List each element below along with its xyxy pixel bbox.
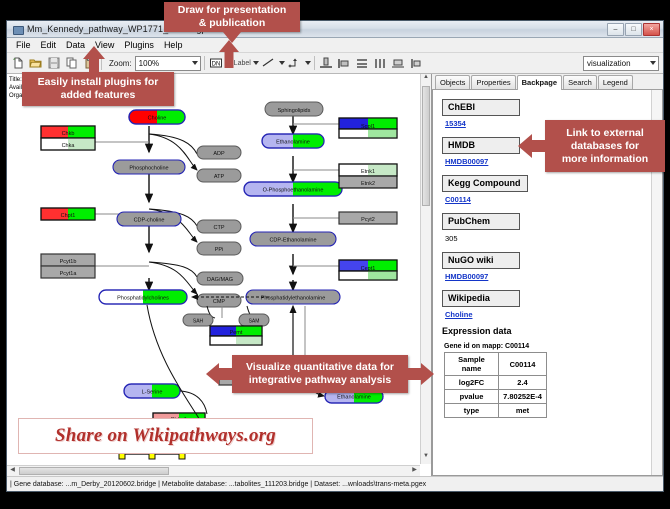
cell-key: log2FC: [445, 376, 499, 390]
side-panel-tabs: Objects Properties Backpage Search Legen…: [432, 74, 663, 90]
gene-box-pemt: Pemt: [210, 326, 262, 345]
svg-text:PPi: PPi: [215, 247, 224, 253]
svg-text:O-Phosphoethanolamine: O-Phosphoethanolamine: [263, 188, 324, 194]
scroll-thumb-horizontal[interactable]: [19, 467, 169, 475]
open-folder-icon[interactable]: [27, 55, 44, 72]
node-o-phosphoethanolamine: O-Phosphoethanolamine: [244, 182, 342, 196]
svg-text:Pcyt1a: Pcyt1a: [60, 271, 78, 277]
cell-key: pvalue: [445, 390, 499, 404]
gene-box-pcyt1b-pcyt1a: Pcyt1b Pcyt1a: [41, 254, 95, 278]
align-bottom-icon[interactable]: [318, 55, 335, 72]
line-tool-icon[interactable]: [260, 55, 277, 72]
scroll-down-icon[interactable]: ▼: [421, 453, 431, 464]
close-button[interactable]: ×: [643, 23, 660, 36]
svg-text:Cept1: Cept1: [361, 266, 376, 272]
pathway-graph: Sphingolipids Choline Ethanola: [7, 74, 432, 476]
new-document-icon[interactable]: [9, 55, 26, 72]
tab-properties[interactable]: Properties: [471, 75, 515, 89]
section-header-hmdb: HMDB: [442, 137, 520, 154]
canvas-horizontal-scrollbar[interactable]: ◀ ▶: [7, 465, 420, 476]
cell-value: C00114: [499, 353, 547, 376]
gene-box-chkb-chka: Chkb Chka: [41, 126, 95, 150]
node-phosphatidylethanolamine: Phosphatidylethanolamine: [246, 290, 340, 304]
svg-text:Etnk1: Etnk1: [361, 169, 375, 175]
tab-objects[interactable]: Objects: [435, 75, 470, 89]
app-icon: [12, 24, 23, 35]
pathway-canvas[interactable]: Title: Availa Organ: [7, 74, 432, 476]
zoom-value: 100%: [139, 59, 159, 68]
svg-text:Ethanolamine: Ethanolamine: [276, 140, 310, 146]
callout-links-fat-arrow: [518, 133, 550, 159]
chevron-down-icon[interactable]: [305, 61, 311, 65]
svg-text:SAH: SAH: [193, 319, 204, 325]
bring-front-icon[interactable]: [408, 55, 425, 72]
section-header-pubchem: PubChem: [442, 213, 520, 230]
cell-value: 7.80252E-4: [499, 390, 547, 404]
node-cdp-choline: CDP-choline: [117, 212, 181, 226]
status-text: | Gene database: ...m_Derby_20120602.bri…: [10, 481, 426, 488]
minimize-button[interactable]: –: [607, 23, 624, 36]
svg-text:L-Serine: L-Serine: [142, 390, 163, 396]
gene-box-etnk1-etnk2: Etnk1 Etnk2: [339, 164, 397, 188]
scroll-up-icon[interactable]: ▲: [421, 74, 431, 85]
svg-text:CMP: CMP: [213, 299, 226, 305]
callout-share-wikipathways: Share on Wikipathways.org: [18, 418, 313, 454]
cell-value: 2.4: [499, 376, 547, 390]
chevron-down-icon[interactable]: [279, 61, 285, 65]
visualization-combo[interactable]: visualization: [583, 56, 659, 71]
svg-text:Sphingolipids: Sphingolipids: [278, 108, 311, 114]
distribute-horizontal-icon[interactable]: [372, 55, 389, 72]
node-sah: SAH: [183, 314, 213, 326]
gene-box-sgpl1: Sgpl1: [339, 118, 397, 138]
callout-visualize-fat-arrow-right: [404, 362, 434, 386]
svg-text:Chka: Chka: [62, 143, 76, 149]
menu-file[interactable]: File: [11, 39, 36, 51]
svg-text:Pcyt1b: Pcyt1b: [60, 259, 77, 265]
link-nugo[interactable]: HMDB00097: [445, 272, 662, 281]
table-row: type met: [445, 404, 547, 418]
toolbar-separator: [314, 56, 315, 70]
canvas-vertical-scrollbar[interactable]: ▲ ▼: [420, 74, 431, 464]
expression-data-title: Expression data: [442, 326, 662, 336]
svg-text:CTP: CTP: [214, 225, 225, 231]
callout-top-fat-arrow: [218, 40, 240, 68]
cell-value: met: [499, 404, 547, 418]
callout-visualize-data: Visualize quantitative data for integrat…: [232, 355, 408, 393]
expression-gene-id: Gene id on mapp: C00114: [444, 343, 662, 350]
node-atp: ATP: [197, 169, 241, 182]
node-adp: ADP: [197, 146, 241, 159]
section-header-kegg: Kegg Compound: [442, 175, 528, 192]
callout-draw-for-publication: Draw for presentation & publication: [164, 2, 300, 32]
svg-text:Pemt: Pemt: [230, 330, 243, 336]
menu-plugins[interactable]: Plugins: [119, 39, 159, 51]
share-text: Share on Wikipathways.org: [55, 425, 276, 447]
svg-text:CDP-choline: CDP-choline: [134, 218, 165, 224]
table-row: pvalue 7.80252E-4: [445, 390, 547, 404]
node-ctp: CTP: [197, 220, 241, 233]
node-sphingolipids: Sphingolipids: [265, 102, 323, 116]
scroll-left-icon[interactable]: ◀: [7, 466, 18, 476]
node-phosphatidylcholines: Phosphatidylcholines: [99, 290, 187, 304]
callout-plugins-fat-arrow: [82, 46, 106, 76]
section-header-chebi: ChEBI: [442, 99, 520, 116]
svg-text:Ethanolamine: Ethanolamine: [337, 395, 371, 401]
link-wikipedia[interactable]: Choline: [445, 310, 662, 319]
chevron-down-icon: [650, 61, 656, 65]
gene-box-pcyt2: Pcyt2: [339, 212, 397, 224]
chevron-down-icon[interactable]: [253, 61, 259, 65]
node-dag-mag: DAG/MAG: [197, 272, 243, 285]
svg-text:Choline: Choline: [148, 116, 167, 122]
tab-backpage[interactable]: Backpage: [517, 75, 562, 90]
svg-text:Sgpl1: Sgpl1: [361, 124, 375, 130]
cell-key: type: [445, 404, 499, 418]
callout-external-links: Link to external databases for more info…: [545, 120, 665, 172]
svg-text:ATP: ATP: [214, 174, 225, 180]
tab-legend[interactable]: Legend: [598, 75, 633, 89]
node-phosphocholine: Phosphocholine: [113, 160, 185, 174]
zoom-label: Zoom:: [109, 59, 132, 68]
gene-box-chpt1: Chpt1: [41, 208, 95, 220]
link-kegg[interactable]: C00114: [445, 195, 662, 204]
gene-box-cept1: Cept1: [339, 260, 397, 280]
svg-text:Phosphatidylethanolamine: Phosphatidylethanolamine: [261, 296, 326, 302]
group-icon[interactable]: [390, 55, 407, 72]
value-pubchem: 305: [445, 234, 662, 243]
table-row: log2FC 2.4: [445, 376, 547, 390]
node-cmp: CMP: [197, 294, 241, 307]
tab-search[interactable]: Search: [563, 75, 597, 89]
svg-text:Chkb: Chkb: [62, 131, 75, 137]
svg-text:DAG/MAG: DAG/MAG: [207, 277, 233, 283]
menu-help[interactable]: Help: [159, 39, 188, 51]
copy-icon[interactable]: [63, 55, 80, 72]
node-ethanolamine-top: Ethanolamine: [262, 134, 324, 148]
zoom-combo[interactable]: 100%: [135, 56, 201, 71]
expression-table: Sample name C00114 log2FC 2.4 pvalue 7.8…: [444, 352, 547, 418]
svg-text:Phosphatidylcholines: Phosphatidylcholines: [117, 296, 169, 302]
section-header-wikipedia: Wikipedia: [442, 290, 520, 307]
svg-text:Chpt1: Chpt1: [61, 213, 76, 219]
node-cdp-ethanolamine: CDP-Ethanolamine: [250, 232, 336, 246]
svg-text:CDP-Ethanolamine: CDP-Ethanolamine: [269, 238, 316, 244]
window-controls: – □ ×: [607, 23, 660, 36]
callout-visualize-fat-arrow-left: [206, 362, 236, 386]
chevron-down-icon: [192, 61, 198, 65]
screenshot-root: Mm_Kennedy_pathway_WP1771_45176.gpml – □…: [0, 0, 670, 509]
svg-text:SAM: SAM: [249, 319, 260, 325]
align-left-icon[interactable]: [336, 55, 353, 72]
svg-text:Phosphocholine: Phosphocholine: [129, 166, 168, 172]
toolbar-separator: [204, 56, 205, 70]
table-row: Sample name C00114: [445, 353, 547, 376]
save-disk-icon[interactable]: [45, 55, 62, 72]
section-header-nugo: NuGO wiki: [442, 252, 520, 269]
maximize-button[interactable]: □: [625, 23, 642, 36]
node-sam: SAM: [239, 314, 269, 326]
svg-text:Etnk2: Etnk2: [361, 181, 375, 187]
scroll-thumb-vertical[interactable]: [422, 86, 430, 206]
visualization-value: visualization: [587, 59, 631, 68]
cell-key: Sample name: [445, 353, 499, 376]
svg-text:ADP: ADP: [213, 151, 225, 157]
node-ppi: PPi: [197, 242, 241, 255]
status-bar: | Gene database: ...m_Derby_20120602.bri…: [7, 476, 663, 491]
callout-install-plugins: Easily install plugins for added feature…: [22, 72, 174, 106]
node-l-serine-left: L-Serine: [124, 384, 180, 398]
svg-text:Pcyt2: Pcyt2: [361, 217, 375, 223]
interaction-tool-icon[interactable]: [286, 55, 303, 72]
scroll-right-icon[interactable]: ▶: [409, 466, 420, 476]
node-choline-top: Choline: [129, 110, 185, 124]
stack-vertical-icon[interactable]: [354, 55, 371, 72]
menu-edit[interactable]: Edit: [36, 39, 62, 51]
window-titlebar: Mm_Kennedy_pathway_WP1771_45176.gpml – □…: [7, 21, 663, 38]
